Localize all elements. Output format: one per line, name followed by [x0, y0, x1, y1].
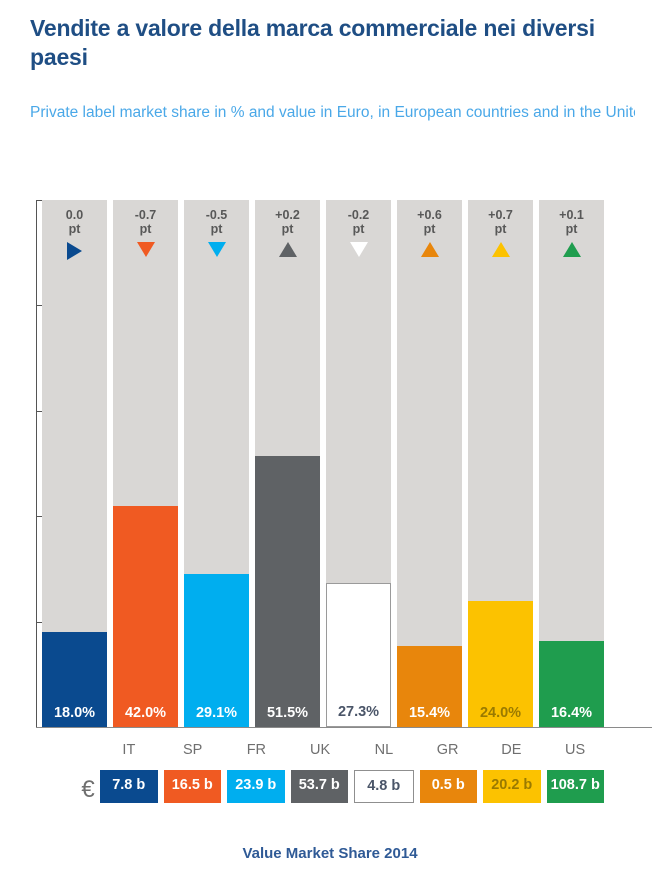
delta-block: -0.7pt: [113, 208, 178, 257]
country-label-de: DE: [483, 742, 541, 758]
euro-value-sp: 16.5 b: [164, 770, 222, 803]
chart-page: Vendite a valore della marca commerciale…: [0, 0, 660, 883]
delta-value: +0.2: [255, 208, 320, 222]
delta-value: 0.0: [42, 208, 107, 222]
delta-value: -0.5: [184, 208, 249, 222]
euro-value-uk: 53.7 b: [291, 770, 349, 803]
delta-block: +0.1pt: [539, 208, 604, 257]
delta-down-arrow-icon: [137, 242, 155, 257]
euro-value-row: 7.8 b16.5 b23.9 b53.7 b4.8 b0.5 b20.2 b1…: [100, 770, 604, 803]
euro-value-it: 7.8 b: [100, 770, 158, 803]
euro-value-gr: 0.5 b: [420, 770, 478, 803]
value-bar-label: 27.3%: [327, 704, 390, 720]
country-label-row: ITSPFRUKNLGRDEUS: [100, 742, 604, 758]
bar-column-it: 0.0pt18.0%: [42, 200, 107, 727]
country-label-fr: FR: [228, 742, 286, 758]
delta-unit: pt: [113, 222, 178, 236]
delta-unit: pt: [255, 222, 320, 236]
value-bar: 27.3%: [326, 583, 391, 727]
delta-value: +0.6: [397, 208, 462, 222]
value-bar-label: 29.1%: [184, 705, 249, 721]
delta-block: -0.5pt: [184, 208, 249, 257]
delta-value: +0.1: [539, 208, 604, 222]
euro-value-us: 108.7 b: [547, 770, 605, 803]
chart-caption: Value Market Share 2014: [0, 845, 660, 862]
delta-block: 0.0pt: [42, 208, 107, 260]
delta-unit: pt: [539, 222, 604, 236]
value-bar: 18.0%: [42, 632, 107, 727]
delta-up-arrow-icon: [279, 242, 297, 257]
value-bar-label: 15.4%: [397, 705, 462, 721]
delta-unit: pt: [326, 222, 391, 236]
country-label-sp: SP: [164, 742, 222, 758]
header: Vendite a valore della marca commerciale…: [30, 14, 635, 126]
value-bar: 51.5%: [255, 456, 320, 727]
value-bar: 42.0%: [113, 506, 178, 727]
value-bar: 15.4%: [397, 646, 462, 727]
delta-value: -0.2: [326, 208, 391, 222]
value-bar: 16.4%: [539, 641, 604, 727]
delta-unit: pt: [468, 222, 533, 236]
country-label-nl: NL: [355, 742, 413, 758]
value-bar: 29.1%: [184, 574, 249, 727]
bar-chart: 0.0pt18.0%-0.7pt42.0%-0.5pt29.1%+0.2pt51…: [0, 195, 660, 740]
page-subtitle: Private label market share in % and valu…: [30, 72, 635, 127]
value-bar-label: 42.0%: [113, 705, 178, 721]
bar-column-sp: -0.7pt42.0%: [113, 200, 178, 727]
value-bar-label: 24.0%: [468, 705, 533, 721]
x-axis-baseline: [36, 727, 652, 728]
bar-column-gr: +0.6pt15.4%: [397, 200, 462, 727]
delta-block: -0.2pt: [326, 208, 391, 257]
delta-block: +0.7pt: [468, 208, 533, 257]
delta-down-arrow-icon: [350, 242, 368, 257]
delta-flat-arrow-icon: [67, 242, 82, 260]
bar-column-nl: -0.2pt27.3%: [326, 200, 391, 727]
value-bar-label: 51.5%: [255, 705, 320, 721]
country-label-it: IT: [100, 742, 158, 758]
delta-value: -0.7: [113, 208, 178, 222]
delta-value: +0.7: [468, 208, 533, 222]
delta-block: +0.2pt: [255, 208, 320, 257]
country-label-uk: UK: [291, 742, 349, 758]
euro-value-de: 20.2 b: [483, 770, 541, 803]
delta-unit: pt: [184, 222, 249, 236]
value-bar: 24.0%: [468, 601, 533, 727]
bar-column-de: +0.7pt24.0%: [468, 200, 533, 727]
bar-column-uk: +0.2pt51.5%: [255, 200, 320, 727]
delta-block: +0.6pt: [397, 208, 462, 257]
value-bar-label: 18.0%: [42, 705, 107, 721]
country-label-us: US: [546, 742, 604, 758]
euro-value-fr: 23.9 b: [227, 770, 285, 803]
bar-column-us: +0.1pt16.4%: [539, 200, 604, 727]
delta-unit: pt: [397, 222, 462, 236]
delta-unit: pt: [42, 222, 107, 236]
page-title: Vendite a valore della marca commerciale…: [30, 14, 635, 72]
value-bar-label: 16.4%: [539, 705, 604, 721]
euro-symbol-icon: €: [74, 778, 102, 802]
delta-up-arrow-icon: [492, 242, 510, 257]
country-label-gr: GR: [419, 742, 477, 758]
delta-up-arrow-icon: [563, 242, 581, 257]
delta-up-arrow-icon: [421, 242, 439, 257]
delta-down-arrow-icon: [208, 242, 226, 257]
bar-column-fr: -0.5pt29.1%: [184, 200, 249, 727]
bar-columns: 0.0pt18.0%-0.7pt42.0%-0.5pt29.1%+0.2pt51…: [42, 200, 604, 727]
euro-value-nl: 4.8 b: [354, 770, 414, 803]
